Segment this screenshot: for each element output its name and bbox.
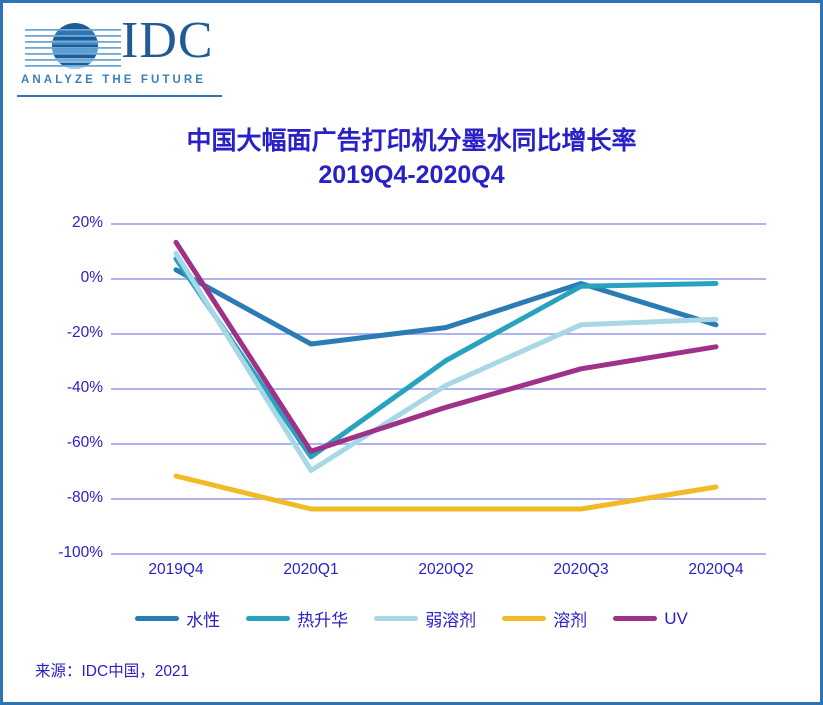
source-note: 来源：IDC中国，2021 [35,659,189,681]
legend-item-water[interactable]: 水性 [135,606,220,631]
legend-item-mild-solvent[interactable]: 弱溶剂 [374,606,476,631]
legend-label: 溶剂 [553,606,587,631]
legend-swatch-icon [135,616,179,621]
legend-item-uv[interactable]: UV [613,609,688,629]
chart-page: IDC ANALYZE THE FUTURE 中国大幅面广告打印机分墨水同比增长… [0,0,823,705]
legend-label: 热升华 [297,606,348,631]
legend-item-sublimation[interactable]: 热升华 [246,606,348,631]
chart-legend: 水性 热升华 弱溶剂 溶剂 UV [3,606,820,631]
series-lines [3,3,823,705]
legend-swatch-icon [502,616,546,621]
series-line-3 [176,476,716,509]
legend-swatch-icon [246,616,290,621]
legend-label: UV [664,609,688,629]
series-line-0 [176,270,716,344]
legend-label: 弱溶剂 [425,606,476,631]
legend-swatch-icon [613,616,657,621]
legend-swatch-icon [374,616,418,621]
legend-label: 水性 [186,606,220,631]
legend-item-solvent[interactable]: 溶剂 [502,606,587,631]
series-line-4 [176,242,716,451]
